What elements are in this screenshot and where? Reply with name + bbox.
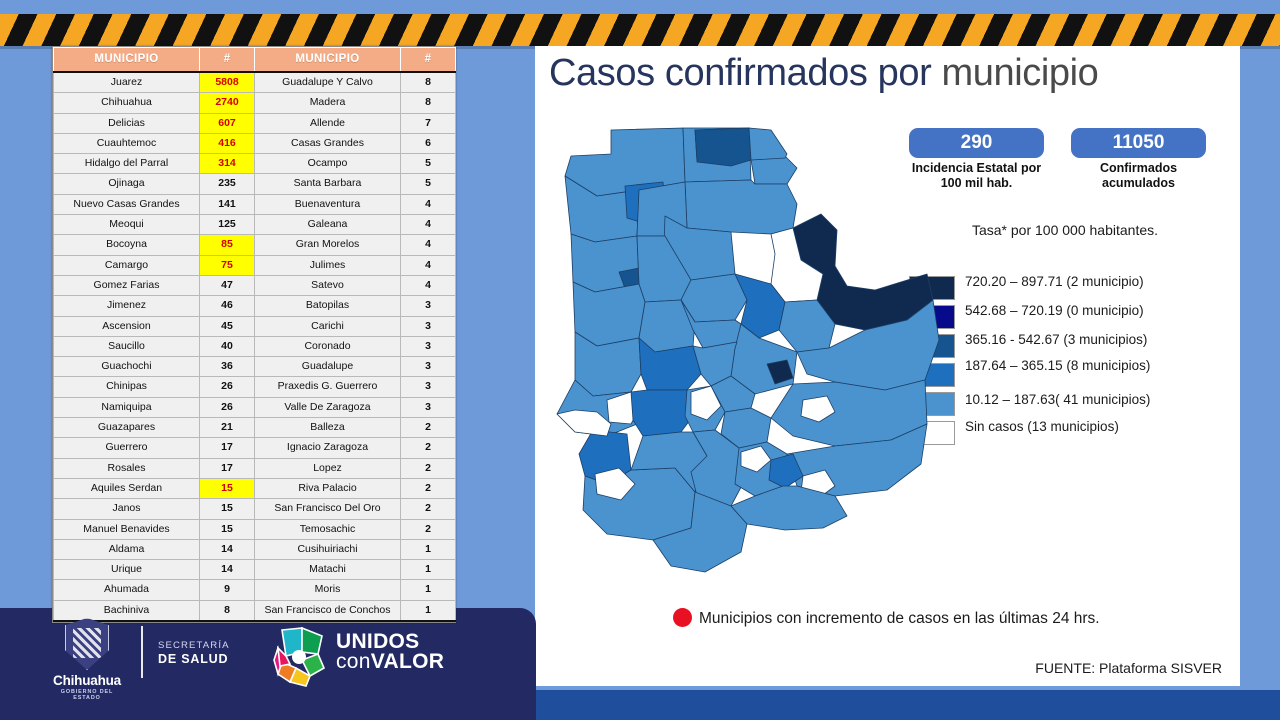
legend-label: 10.12 – 187.63( 41 municipios) [965,392,1227,407]
cell-municipio-left: Chinipas [54,377,200,397]
cell-municipio-left: Camargo [54,255,200,275]
cell-count-left: 17 [200,458,255,478]
unidos-line2: conVALOR [336,652,444,672]
cell-count-left: 607 [200,113,255,133]
salud-line2: DE SALUD [158,652,230,666]
cell-count-right: 2 [401,519,456,539]
cell-municipio-left: Delicias [54,113,200,133]
cell-count-left: 416 [200,133,255,153]
cell-municipio-right: San Francisco de Conchos [255,600,401,621]
cell-municipio-left: Ascension [54,316,200,336]
cell-municipio-left: Guerrero [54,438,200,458]
muni-riva [681,274,747,322]
cell-municipio-left: Namiquipa [54,397,200,417]
cell-count-left: 14 [200,539,255,559]
rate-note: Tasa* por 100 000 habitantes. [915,222,1215,238]
legend-label: Sin casos (13 municipios) [965,419,1227,434]
cell-count-right: 2 [401,458,456,478]
cell-count-right: 2 [401,438,456,458]
cell-count-right: 4 [401,215,456,235]
cell-municipio-left: Nuevo Casas Grandes [54,194,200,214]
cell-municipio-right: Matachi [255,560,401,580]
chihuahua-choropleth-map [535,124,955,594]
hazard-stripe-band [0,14,1280,46]
cell-municipio-right: San Francisco Del Oro [255,499,401,519]
unidos-state-mark-icon [272,626,330,688]
col-header-municipio-left: MUNICIPIO [54,48,200,73]
cell-count-left: 45 [200,316,255,336]
cell-count-left: 314 [200,154,255,174]
muni-pgguerrero [751,156,797,184]
page-title: Casos confirmados por municipio [549,52,1098,95]
cell-count-left: 75 [200,255,255,275]
cell-municipio-right: Riva Palacio [255,478,401,498]
stat-confirmados: 11050 Confirmados acumulados [1071,128,1206,191]
cell-municipio-left: Gomez Farias [54,275,200,295]
cell-municipio-left: Rosales [54,458,200,478]
table-row: Jimenez46Batopilas3 [54,296,456,316]
cell-count-right: 1 [401,600,456,621]
legend-item: 10.12 – 187.63( 41 municipios) [909,390,1229,419]
logo-divider [141,626,143,678]
cell-municipio-right: Batopilas [255,296,401,316]
table-row: Janos15San Francisco Del Oro2 [54,499,456,519]
cell-count-right: 4 [401,194,456,214]
cell-count-right: 2 [401,499,456,519]
table-row: Juarez5808Guadalupe Y Calvo8 [54,72,456,93]
cell-count-right: 3 [401,316,456,336]
cell-count-right: 5 [401,174,456,194]
cell-municipio-left: Aldama [54,539,200,559]
cell-municipio-right: Julimes [255,255,401,275]
legend-label: 720.20 – 897.71 (2 municipio) [965,274,1227,289]
cell-count-left: 15 [200,519,255,539]
unidos-con-valor-text: UNIDOS conVALOR [336,632,444,671]
shield-icon [65,618,109,670]
table-row: Aldama14Cusihuiriachi1 [54,539,456,559]
cell-count-left: 235 [200,174,255,194]
table-row: Saucillo40Coronado3 [54,336,456,356]
col-header-count-left: # [200,48,255,73]
unidos-con: con [336,650,371,673]
cell-municipio-right: Guadalupe [255,357,401,377]
cell-municipio-left: Meoqui [54,215,200,235]
salud-line1: SECRETARÍA [158,640,230,651]
cell-count-right: 4 [401,275,456,295]
cell-count-right: 3 [401,357,456,377]
cell-count-right: 1 [401,560,456,580]
cell-municipio-right: Casas Grandes [255,133,401,153]
cell-municipio-right: Santa Barbara [255,174,401,194]
cell-municipio-left: Ahumada [54,580,200,600]
muni-juarez2 [695,128,751,166]
main-content-card: Casos confirmados por municipio 290 Inci… [535,46,1240,686]
table-row: Guachochi36Guadalupe3 [54,357,456,377]
map-legend: 720.20 – 897.71 (2 municipio)542.68 – 72… [909,274,1229,448]
legend-item: 187.64 – 365.15 (8 municipios) [909,361,1229,390]
cell-count-left: 85 [200,235,255,255]
legend-label: 542.68 – 720.19 (0 municipio) [965,303,1227,318]
table-row: Chinipas26Praxedis G. Guerrero3 [54,377,456,397]
cell-count-right: 7 [401,113,456,133]
cell-count-left: 36 [200,357,255,377]
unidos-con-valor-logo: UNIDOS conVALOR [272,626,472,688]
cell-count-right: 2 [401,418,456,438]
cell-municipio-right: Balleza [255,418,401,438]
cell-municipio-left: Chihuahua [54,93,200,113]
map-svg [535,124,955,594]
table-row: Bocoyna85Gran Morelos4 [54,235,456,255]
cell-municipio-left: Juarez [54,72,200,93]
cell-count-left: 15 [200,499,255,519]
page-title-main: Casos confirmados por [549,52,931,94]
table-row: Ahumada9Moris1 [54,580,456,600]
cell-count-right: 8 [401,93,456,113]
unidos-valor: VALOR [371,650,444,673]
muni-ocampo [573,282,645,346]
cell-municipio-right: Moris [255,580,401,600]
table-row: Chihuahua2740Madera8 [54,93,456,113]
muni-guadalupe [749,128,787,160]
cell-count-left: 125 [200,215,255,235]
cell-municipio-right: Allende [255,113,401,133]
table-row: Delicias607Allende7 [54,113,456,133]
cell-municipio-right: Galeana [255,215,401,235]
col-header-count-right: # [401,48,456,73]
table-row: Urique14Matachi1 [54,560,456,580]
cell-count-right: 1 [401,539,456,559]
cell-municipio-left: Manuel Benavides [54,519,200,539]
cell-municipio-right: Guadalupe Y Calvo [255,72,401,93]
cell-municipio-left: Ojinaga [54,174,200,194]
cell-municipio-right: Buenaventura [255,194,401,214]
increment-note: Municipios con incremento de casos en la… [673,608,1233,628]
cell-count-left: 26 [200,397,255,417]
cell-count-right: 3 [401,377,456,397]
cell-count-left: 2740 [200,93,255,113]
cell-municipio-right: Cusihuiriachi [255,539,401,559]
municipality-case-table: MUNICIPIO # MUNICIPIO # Juarez5808Guadal… [53,47,456,622]
cell-municipio-right: Praxedis G. Guerrero [255,377,401,397]
municipality-table: MUNICIPIO # MUNICIPIO # Juarez5808Guadal… [52,46,456,623]
cell-municipio-right: Gran Morelos [255,235,401,255]
cell-count-right: 2 [401,478,456,498]
table-row: Aquiles Serdan15Riva Palacio2 [54,478,456,498]
table-row: Guazapares21Balleza2 [54,418,456,438]
cell-municipio-right: Madera [255,93,401,113]
page-title-secondary: municipio [931,52,1098,94]
stat-confirmados-value: 11050 [1071,128,1206,158]
shield-inner-pattern [73,628,101,658]
cell-count-right: 6 [401,133,456,153]
table-row: Camargo75Julimes4 [54,255,456,275]
cell-municipio-right: Temosachic [255,519,401,539]
cell-count-left: 46 [200,296,255,316]
cell-municipio-left: Janos [54,499,200,519]
table-row: Guerrero17Ignacio Zaragoza2 [54,438,456,458]
chihuahua-gov-logo: Chihuahua GOBIERNO DEL ESTADO [52,618,122,701]
cell-municipio-left: Cuauhtemoc [54,133,200,153]
red-dot-icon [673,608,692,627]
cell-municipio-right: Satevo [255,275,401,295]
legend-item: 365.16 - 542.67 (3 municipios) [909,332,1229,361]
muni-ahumada [685,180,797,234]
source-note: FUENTE: Plataforma SISVER [1035,660,1222,676]
table-row: Ascension45Carichi3 [54,316,456,336]
cell-count-right: 3 [401,296,456,316]
table-row: Gomez Farias47Satevo4 [54,275,456,295]
cell-count-left: 40 [200,336,255,356]
legend-item: 720.20 – 897.71 (2 municipio) [909,274,1229,303]
cell-municipio-left: Jimenez [54,296,200,316]
legend-label: 187.64 – 365.15 (8 municipios) [965,358,1227,373]
cell-municipio-left: Hidalgo del Parral [54,154,200,174]
cell-count-right: 4 [401,255,456,275]
increment-note-text: Municipios con incremento de casos en la… [699,610,1100,627]
table-row: Cuauhtemoc416Casas Grandes6 [54,133,456,153]
cell-count-left: 21 [200,418,255,438]
cell-municipio-left: Aquiles Serdan [54,478,200,498]
muni-maguarichi [631,390,693,436]
legend-label: 365.16 - 542.67 (3 municipios) [965,332,1227,347]
cell-count-left: 26 [200,377,255,397]
cell-count-left: 15 [200,478,255,498]
cell-count-right: 3 [401,336,456,356]
cell-municipio-right: Coronado [255,336,401,356]
cell-count-left: 9 [200,580,255,600]
stat-confirmados-label: Confirmados acumulados [1071,161,1206,191]
cell-municipio-right: Ocampo [255,154,401,174]
chihuahua-brand-text: Chihuahua [52,673,122,688]
table-row: Manuel Benavides15Temosachic2 [54,519,456,539]
table-row: Ojinaga235Santa Barbara5 [54,174,456,194]
table-row: Hidalgo del Parral314Ocampo5 [54,154,456,174]
cell-count-right: 5 [401,154,456,174]
cell-count-left: 8 [200,600,255,621]
table-row: Nuevo Casas Grandes141Buenaventura4 [54,194,456,214]
table-row: Meoqui125Galeana4 [54,215,456,235]
cell-municipio-left: Saucillo [54,336,200,356]
cell-municipio-right: Valle De Zaragoza [255,397,401,417]
cell-count-right: 8 [401,72,456,93]
cell-municipio-left: Guazapares [54,418,200,438]
cell-count-left: 5808 [200,72,255,93]
secretaria-salud-logo: SECRETARÍA DE SALUD [158,640,230,666]
cell-count-left: 47 [200,275,255,295]
cell-count-left: 14 [200,560,255,580]
cell-municipio-left: Bocoyna [54,235,200,255]
chihuahua-brand-subtext: GOBIERNO DEL ESTADO [52,689,122,701]
cell-municipio-left: Urique [54,560,200,580]
cell-municipio-right: Ignacio Zaragoza [255,438,401,458]
table-row: Rosales17Lopez2 [54,458,456,478]
cell-municipio-right: Carichi [255,316,401,336]
cell-count-right: 3 [401,397,456,417]
legend-item: Sin casos (13 municipios) [909,419,1229,448]
cell-municipio-left: Guachochi [54,357,200,377]
table-header-row: MUNICIPIO # MUNICIPIO # [54,48,456,73]
cell-count-left: 17 [200,438,255,458]
table-row: Namiquipa26Valle De Zaragoza3 [54,397,456,417]
cell-count-left: 141 [200,194,255,214]
cell-municipio-right: Lopez [255,458,401,478]
col-header-municipio-right: MUNICIPIO [255,48,401,73]
cell-count-right: 4 [401,235,456,255]
legend-item: 542.68 – 720.19 (0 municipio) [909,303,1229,332]
cell-count-right: 1 [401,580,456,600]
